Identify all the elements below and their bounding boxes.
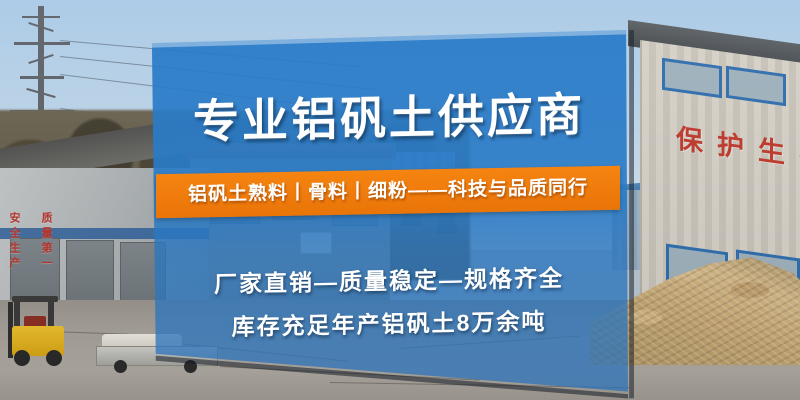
promotional-banner: 安全生产 质量第一 保护生态 xyxy=(0,0,800,400)
forklift xyxy=(8,296,68,368)
ribbon-text: 铝矾土熟料丨骨料丨细粉——科技与品质同行 xyxy=(156,166,620,219)
wall-slogan-left-2: 质量第一 xyxy=(40,212,52,272)
forklift-wheel xyxy=(46,350,62,366)
wall-slogan-left-1: 安全生产 xyxy=(8,212,20,272)
headline: 专业铝矾土供应商 xyxy=(150,78,628,153)
forklift-wheel xyxy=(14,350,30,366)
truck-wheel xyxy=(114,360,127,373)
orange-ribbon: 铝矾土熟料丨骨料丨细粉——科技与品质同行 xyxy=(156,166,620,219)
